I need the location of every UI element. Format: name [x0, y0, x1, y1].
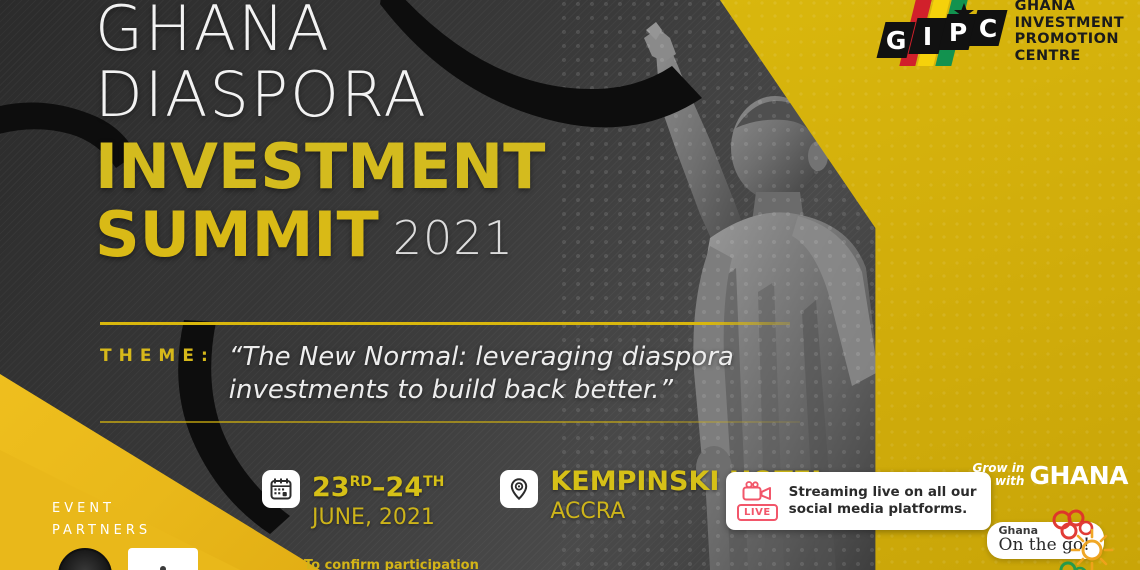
partner-logo-card	[128, 548, 198, 570]
streaming-badge: LIVE Streaming live on all our social me…	[726, 472, 991, 530]
calendar-icon	[262, 470, 300, 508]
gipc-logo[interactable]: G I P C GHANA INVESTMENT PROMOTION CENTR…	[879, 0, 1124, 72]
gipc-logo-wordmark: GHANA INVESTMENT PROMOTION CENTRE	[1015, 0, 1124, 64]
theme-label: THEME:	[100, 341, 215, 366]
streaming-text-line-1: Streaming live on all our	[789, 484, 977, 501]
gipc-word-line-4: CENTRE	[1015, 48, 1124, 65]
ghana-on-the-go-badge: Ghana On the go!	[987, 522, 1104, 559]
partners-title-line-1: EVENT	[52, 498, 151, 520]
title-line-diaspora: DIASPORA	[95, 64, 545, 126]
theme-text: “The New Normal: leveraging diaspora inv…	[229, 341, 900, 407]
title-line-investment: INVESTMENT	[95, 136, 545, 198]
partners-title-line-2: PARTNERS	[52, 520, 151, 542]
tagline-ghana-word: GHANA	[1029, 463, 1128, 488]
confirm-participation-note: To confirm participation	[304, 558, 479, 570]
event-partners-heading: EVENT PARTNERS	[52, 498, 151, 542]
gipc-logo-mark: G I P C	[879, 0, 1009, 72]
event-title: GHANA DIASPORA INVESTMENT SUMMIT 2021	[95, 0, 545, 266]
title-line-ghana: GHANA	[95, 0, 545, 60]
event-month-year: JUNE, 2021	[312, 505, 444, 531]
gipc-word-line-1: GHANA	[1015, 0, 1124, 15]
tagline-small-line-2: Grow with	[956, 475, 1025, 488]
event-date-item: 23RD–24TH JUNE, 2021	[262, 468, 444, 531]
grow-with-ghana-tagline: Grow in Grow with GHANA	[956, 462, 1128, 488]
video-camera-icon	[742, 481, 772, 501]
gipc-word-line-2: INVESTMENT	[1015, 15, 1124, 32]
streaming-icons: LIVE	[737, 481, 778, 521]
partner-logo-row	[58, 548, 198, 570]
theme-divider-top	[100, 322, 790, 325]
partner-logo-seal	[58, 548, 112, 570]
title-year: 2021	[393, 210, 514, 266]
gipc-word-line-3: PROMOTION	[1015, 31, 1124, 48]
streaming-text: Streaming live on all our social media p…	[789, 484, 977, 518]
live-tag: LIVE	[737, 504, 778, 521]
streaming-text-line-2: social media platforms.	[789, 501, 977, 518]
theme-divider-bottom	[100, 421, 800, 423]
title-line-summit: SUMMIT	[95, 204, 379, 266]
event-date-range: 23RD–24TH	[312, 468, 444, 502]
poster-canvas: G I P C GHANA INVESTMENT PROMOTION CENTR…	[0, 0, 1140, 570]
location-pin-icon	[500, 470, 538, 508]
theme-section: THEME: “The New Normal: leveraging diasp…	[100, 322, 900, 423]
partner-emblem-icon	[152, 563, 174, 570]
floral-decoration-icon	[1032, 504, 1118, 570]
